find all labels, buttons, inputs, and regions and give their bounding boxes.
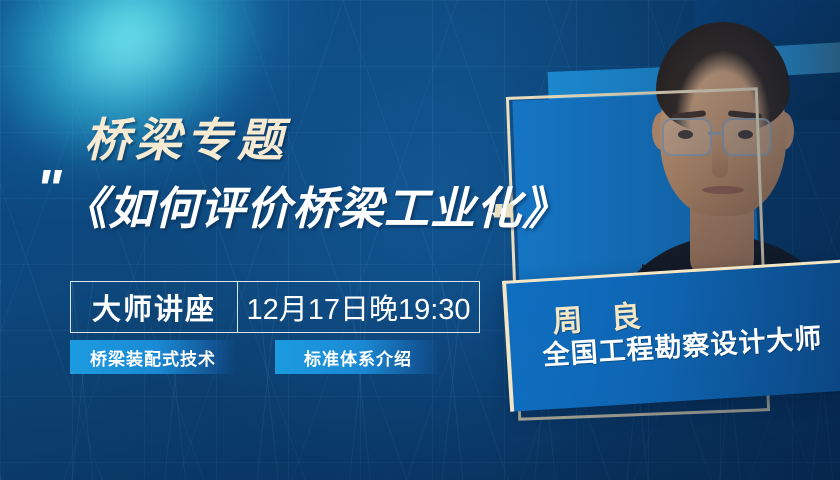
lecture-label: 大师讲座 xyxy=(92,286,216,328)
page-title: 桥梁专题 xyxy=(84,104,288,170)
lecture-datetime: 12月17日晚19:30 xyxy=(246,286,470,328)
topic-tag-1[interactable]: 标准体系介绍 xyxy=(275,340,441,374)
topic-tag-list: 桥梁装配式技术 标准体系介绍 xyxy=(70,340,490,374)
poster-stage: " 桥梁专题 《如何评价桥梁工业化》 " 大师讲座 12月17日晚19:30 桥… xyxy=(0,0,840,480)
quote-close-mark: " xyxy=(488,196,510,250)
lecture-label-cell: 大师讲座 xyxy=(71,282,238,332)
speaker-name-plate-inner: 周 良 全国工程勘察设计大师 xyxy=(506,263,840,412)
quote-open-mark: " xyxy=(36,162,58,216)
lecture-datetime-cell: 12月17日晚19:30 xyxy=(238,282,479,332)
lecture-info-bar: 大师讲座 12月17日晚19:30 xyxy=(70,281,480,333)
topic-tag-0[interactable]: 桥梁装配式技术 xyxy=(70,340,236,374)
speaker-name-plate: 周 良 全国工程勘察设计大师 xyxy=(502,260,840,412)
